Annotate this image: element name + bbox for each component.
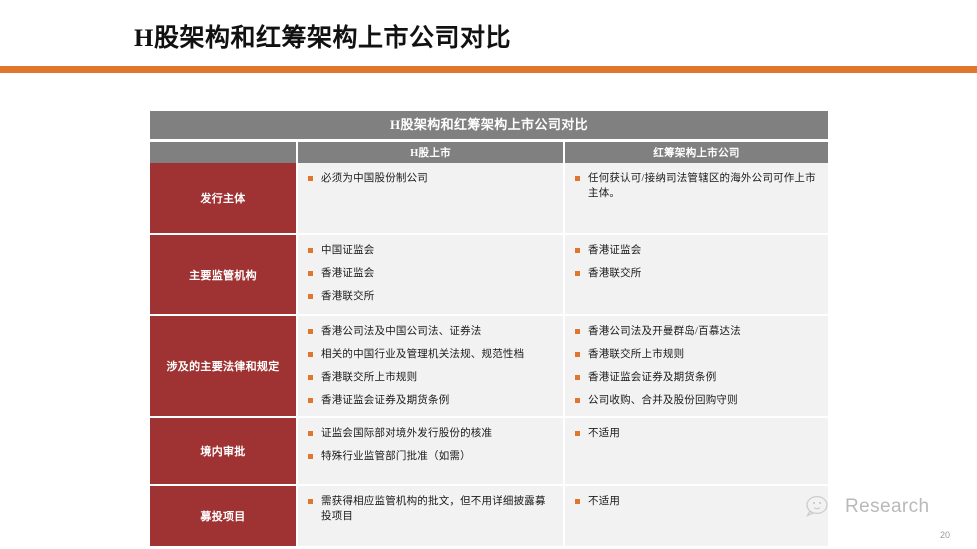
bullet-item: 香港证监会 — [571, 243, 818, 258]
cell-redchip: 香港证监会香港联交所 — [565, 235, 828, 316]
wechat-bubbles-icon — [806, 494, 838, 520]
bullet-item: 香港联交所上市规则 — [304, 370, 553, 385]
row-label: 主要监管机构 — [150, 235, 298, 316]
cell-hshare: 需获得相应监管机构的批文，但不用详细披露募投项目 — [298, 486, 565, 548]
bullet-item: 香港证监会证券及期货条例 — [571, 370, 818, 385]
row-label: 境内审批 — [150, 418, 298, 486]
bullet-item: 不适用 — [571, 426, 818, 441]
comparison-table: H股上市 红筹架构上市公司 发行主体必须为中国股份制公司任何获认可/接纳司法管辖… — [150, 142, 828, 548]
page-title: H股架构和红筹架构上市公司对比 — [134, 18, 511, 54]
bullet-item: 香港联交所 — [571, 266, 818, 281]
bullet-item: 特殊行业监管部门批准（如需） — [304, 449, 553, 464]
bullet-item: 香港公司法及开曼群岛/百慕达法 — [571, 324, 818, 339]
table-row: 主要监管机构中国证监会香港证监会香港联交所香港证监会香港联交所 — [150, 235, 828, 316]
bullet-item: 需获得相应监管机构的批文，但不用详细披露募投项目 — [304, 494, 553, 524]
cell-redchip: 香港公司法及开曼群岛/百慕达法香港联交所上市规则香港证监会证券及期货条例公司收购… — [565, 316, 828, 418]
table-header-row: H股上市 红筹架构上市公司 — [150, 142, 828, 163]
bullet-list: 必须为中国股份制公司 — [304, 171, 553, 186]
table-row: 涉及的主要法律和规定香港公司法及中国公司法、证券法相关的中国行业及管理机关法规、… — [150, 316, 828, 418]
bullet-item: 任何获认可/接纳司法管辖区的海外公司可作上市主体。 — [571, 171, 818, 201]
bullet-list: 不适用 — [571, 494, 818, 509]
bullet-item: 香港证监会证券及期货条例 — [304, 393, 553, 408]
row-label: 涉及的主要法律和规定 — [150, 316, 298, 418]
bullet-item: 相关的中国行业及管理机关法规、规范性档 — [304, 347, 553, 362]
table-row: 境内审批证监会国际部对境外发行股份的核准特殊行业监管部门批准（如需）不适用 — [150, 418, 828, 486]
bullet-list: 任何获认可/接纳司法管辖区的海外公司可作上市主体。 — [571, 171, 818, 201]
bullet-item: 必须为中国股份制公司 — [304, 171, 553, 186]
cell-hshare: 中国证监会香港证监会香港联交所 — [298, 235, 565, 316]
bullet-item: 香港公司法及中国公司法、证券法 — [304, 324, 553, 339]
cell-redchip: 不适用 — [565, 418, 828, 486]
title-divider-rule — [0, 66, 977, 73]
table-row: 发行主体必须为中国股份制公司任何获认可/接纳司法管辖区的海外公司可作上市主体。 — [150, 163, 828, 235]
bullet-list: 香港证监会香港联交所 — [571, 243, 818, 281]
cell-hshare: 证监会国际部对境外发行股份的核准特殊行业监管部门批准（如需） — [298, 418, 565, 486]
brand-watermark: Research — [806, 494, 930, 520]
bullet-item: 香港联交所 — [304, 289, 553, 304]
row-label: 募投项目 — [150, 486, 298, 548]
cell-hshare: 必须为中国股份制公司 — [298, 163, 565, 235]
table-row: 募投项目需获得相应监管机构的批文，但不用详细披露募投项目不适用 — [150, 486, 828, 548]
bullet-list: 不适用 — [571, 426, 818, 441]
column-header-blank — [150, 142, 298, 163]
brand-label: Research — [845, 496, 930, 518]
page-number: 20 — [940, 530, 950, 540]
bullet-list: 香港公司法及开曼群岛/百慕达法香港联交所上市规则香港证监会证券及期货条例公司收购… — [571, 324, 818, 408]
table-caption: H股架构和红筹架构上市公司对比 — [150, 111, 828, 139]
comparison-table-container: H股架构和红筹架构上市公司对比 H股上市 红筹架构上市公司 发行主体必须为中国股… — [150, 111, 828, 548]
cell-redchip: 不适用 — [565, 486, 828, 548]
bullet-item: 证监会国际部对境外发行股份的核准 — [304, 426, 553, 441]
bullet-list: 证监会国际部对境外发行股份的核准特殊行业监管部门批准（如需） — [304, 426, 553, 464]
bullet-item: 香港联交所上市规则 — [571, 347, 818, 362]
row-label: 发行主体 — [150, 163, 298, 235]
bullet-item: 香港证监会 — [304, 266, 553, 281]
bullet-item: 不适用 — [571, 494, 818, 509]
column-header-redchip: 红筹架构上市公司 — [565, 142, 828, 163]
bullet-item: 中国证监会 — [304, 243, 553, 258]
table-body: 发行主体必须为中国股份制公司任何获认可/接纳司法管辖区的海外公司可作上市主体。主… — [150, 163, 828, 548]
column-header-hshare: H股上市 — [298, 142, 565, 163]
cell-redchip: 任何获认可/接纳司法管辖区的海外公司可作上市主体。 — [565, 163, 828, 235]
bullet-list: 香港公司法及中国公司法、证券法相关的中国行业及管理机关法规、规范性档香港联交所上… — [304, 324, 553, 408]
cell-hshare: 香港公司法及中国公司法、证券法相关的中国行业及管理机关法规、规范性档香港联交所上… — [298, 316, 565, 418]
bullet-item: 公司收购、合并及股份回购守则 — [571, 393, 818, 408]
bullet-list: 中国证监会香港证监会香港联交所 — [304, 243, 553, 304]
bullet-list: 需获得相应监管机构的批文，但不用详细披露募投项目 — [304, 494, 553, 524]
